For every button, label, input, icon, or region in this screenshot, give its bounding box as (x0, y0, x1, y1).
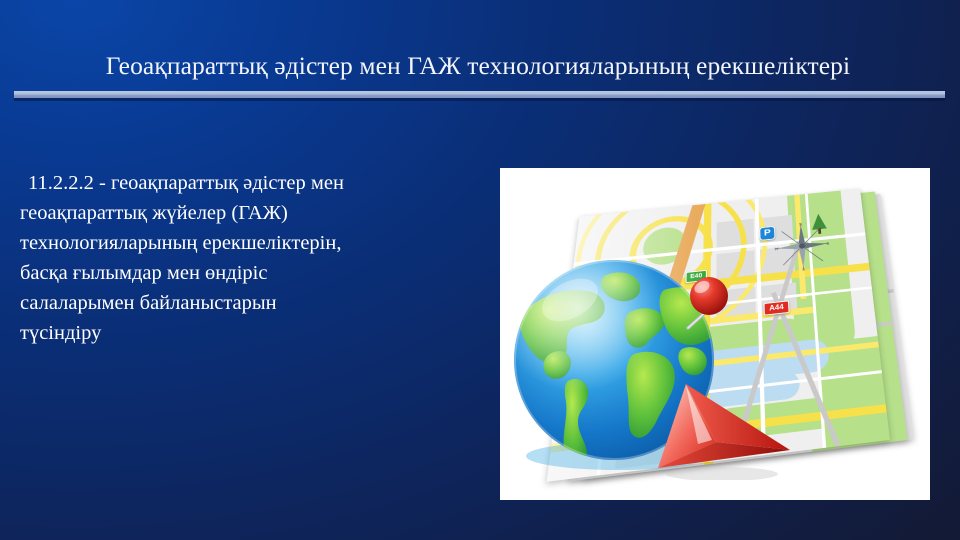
body-line: салаларымен байланыстарын (20, 288, 490, 318)
compass-rose-icon: N E S W (772, 219, 833, 275)
title-block: Геоақпараттық әдістер мен ГАЖ технология… (0, 46, 960, 104)
body-line: басқа ғылымдар мен өндіріс (20, 258, 490, 288)
body-line: 11.2.2.2 - геоақпараттық әдістер мен (20, 168, 490, 198)
svg-text:N: N (799, 222, 803, 227)
title-underline-shadow (14, 98, 945, 101)
svg-text:W: W (774, 247, 779, 252)
slide: Геоақпараттық әдістер мен ГАЖ технология… (0, 0, 960, 540)
navigation-arrow-icon (638, 380, 796, 480)
body-line: геоақпараттық жүйелер (ГАЖ) (20, 198, 490, 228)
red-map-pin-icon (682, 276, 734, 334)
body-text-block: 11.2.2.2 - геоақпараттық әдістер мен гео… (20, 168, 490, 348)
title-underline-bar (14, 91, 945, 98)
body-line: түсіндіру (20, 318, 490, 348)
page-title: Геоақпараттық әдістер мен ГАЖ технология… (0, 46, 956, 86)
illustration-canvas: E40 P A44 E53 (500, 168, 930, 500)
svg-text:E: E (826, 241, 829, 246)
body-line: технологияларының ерекшеліктерін, (20, 228, 490, 258)
illustration-image: E40 P A44 E53 (500, 168, 930, 500)
